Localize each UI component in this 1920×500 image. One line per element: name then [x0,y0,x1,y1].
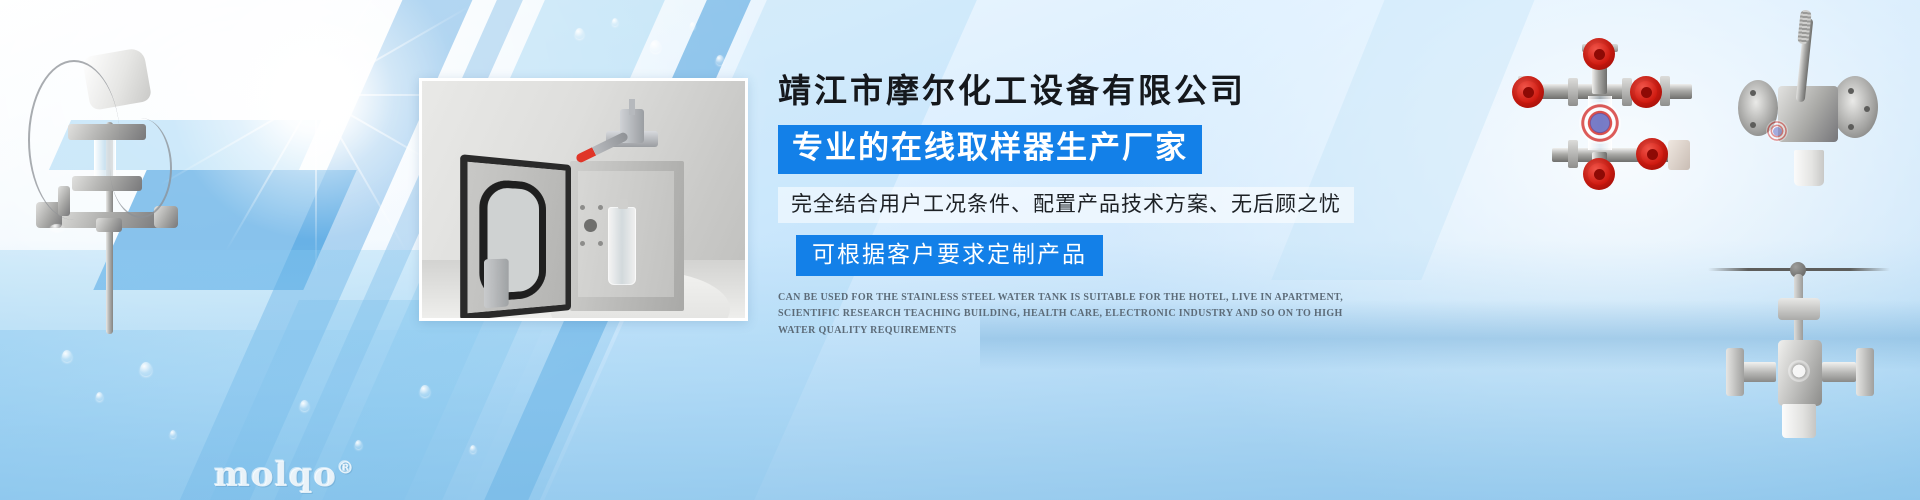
product-pole-sampler [6,26,186,326]
watermark-logo: molqo® [214,455,355,495]
water-droplet-icon [470,445,476,453]
product-lever-valve [1716,24,1898,204]
red-handwheel-icon [1583,38,1615,70]
product-sampling-valve [1722,258,1882,458]
watermark-text: molqo [214,455,337,495]
brand-seal-icon [1766,120,1788,142]
custom-product-badge: 可根据客户要求定制产品 [796,235,1103,276]
red-handwheel-icon [1512,76,1544,108]
company-name: 靖江市摩尔化工设备有限公司 [778,72,1398,113]
english-description: CAN BE USED FOR THE STAINLESS STEEL WATE… [778,290,1373,340]
banner-text-block: 靖江市摩尔化工设备有限公司 专业的在线取样器生产厂家 完全结合用户工况条件、配置… [778,72,1398,339]
water-droplet-icon [96,392,103,401]
water-droplet-icon [62,350,72,362]
red-handwheel-icon [1630,76,1662,108]
subheadline-badge: 完全结合用户工况条件、配置产品技术方案、无后顾之忧 [778,187,1354,223]
registered-mark-icon: ® [337,459,355,479]
water-droplet-icon [612,18,618,26]
red-handwheel-icon [1583,158,1615,190]
headline-badge: 专业的在线取样器生产厂家 [778,125,1202,174]
water-droplet-icon [716,55,724,65]
water-droplet-icon [355,440,362,449]
product-cross-sampler [1496,40,1726,180]
water-droplet-icon [575,28,584,39]
water-droplet-icon [690,22,695,29]
red-handwheel-icon [1636,138,1668,170]
product-photo-cabinet-sampler [419,78,748,321]
water-droplet-icon [300,400,309,411]
water-droplet-icon [170,430,176,438]
water-droplet-icon [140,362,152,376]
brand-seal-icon [1579,102,1621,144]
water-droplet-icon [420,385,430,397]
water-droplet-icon [650,40,661,53]
diagonal-ribbon [49,120,321,170]
diagonal-ribbon [93,170,356,290]
product-banner: 靖江市摩尔化工设备有限公司 专业的在线取样器生产厂家 完全结合用户工况条件、配置… [0,0,1920,500]
